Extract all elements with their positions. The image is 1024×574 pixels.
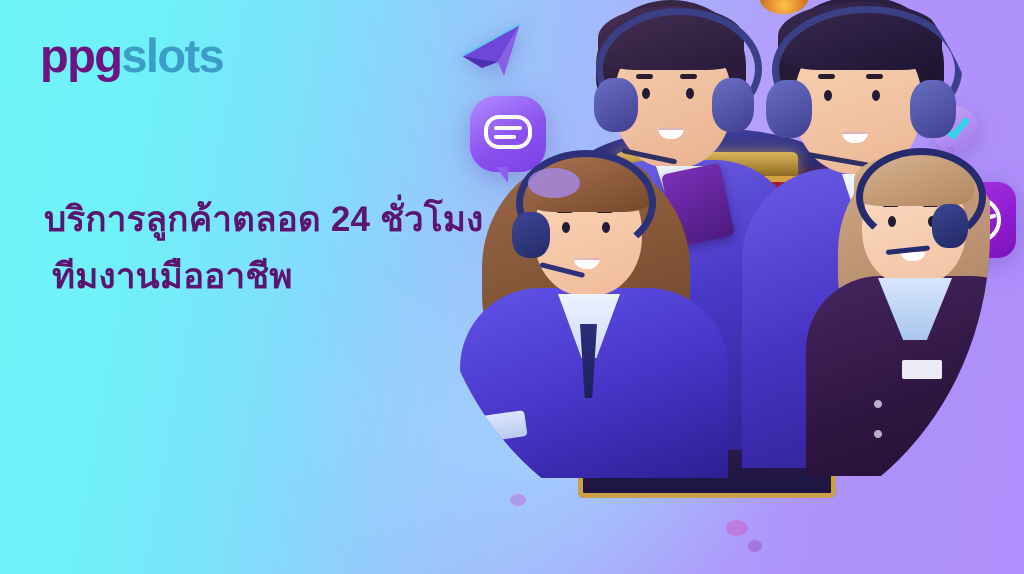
agents-group [430, 0, 990, 540]
confetti-dot [726, 520, 748, 536]
hero-artwork: A [410, 0, 1024, 574]
brand-logo[interactable]: ppgslots [40, 32, 223, 79]
confetti-dot [748, 540, 762, 552]
agent-woman-right [828, 148, 990, 448]
headset-earcup-icon [712, 78, 754, 132]
agent-woman-right-name-badge [902, 360, 942, 379]
confetti-dot [510, 494, 526, 506]
blazer-button [874, 430, 882, 438]
headset-earcup-icon [932, 204, 968, 248]
headset-earcup-icon [512, 212, 550, 258]
mouth [574, 258, 600, 269]
headset-earcup-icon [910, 80, 956, 138]
headset-earcup-icon [594, 78, 638, 132]
agent-woman-left [482, 146, 712, 446]
brand-logo-secondary: slots [121, 29, 223, 82]
blazer-button [874, 400, 882, 408]
brand-logo-primary: ppg [40, 29, 121, 82]
promo-banner: ppgslots บริการลูกค้าตลอด 24 ชั่วโมง ทีม… [0, 0, 1024, 574]
headset-earcup-icon [766, 80, 812, 138]
confetti-dot [528, 168, 580, 198]
